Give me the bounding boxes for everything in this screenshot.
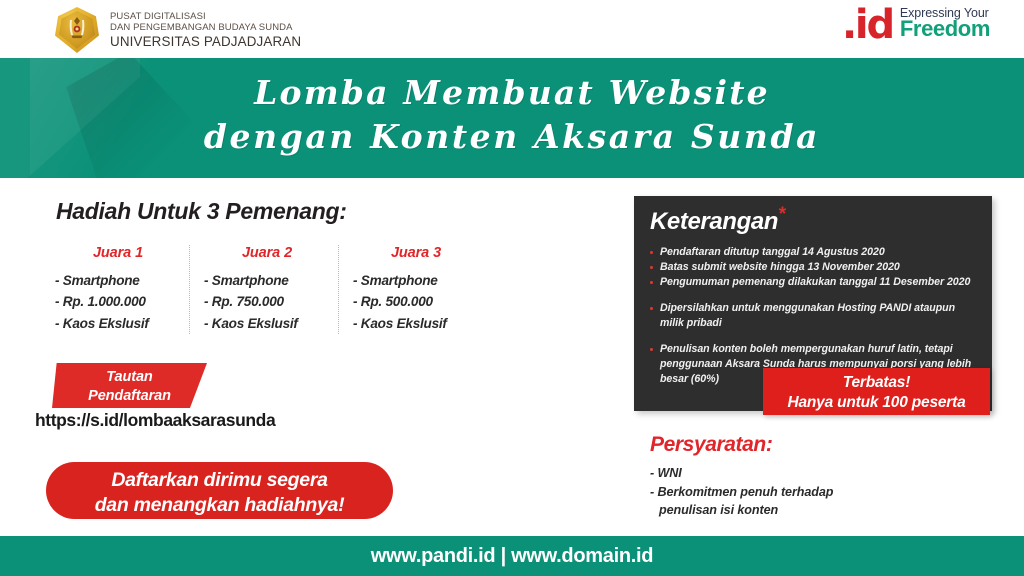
requirements-list: - WNI - Berkomitmen penuh terhadap penul… [650, 464, 833, 520]
page-title-line-1: Lomba Membuat Website [0, 71, 1024, 115]
prize-item: - Kaos Ekslusif [353, 313, 479, 334]
quota-badge: Terbatas! Hanya untuk 100 peserta [763, 368, 990, 415]
requirement-item-continued: penulisan isi konten [650, 501, 833, 520]
page-title-line-2: dengan Konten Aksara Sunda [0, 115, 1024, 159]
info-item: Batas submit website hingga 13 November … [650, 260, 974, 275]
page-header: PUSAT DIGITALISASI DAN PENGEMBANGAN BUDA… [0, 0, 1024, 58]
info-group-2: Dipersilahkan untuk menggunakan Hosting … [650, 301, 974, 331]
dot-id-wordmark: .id [842, 9, 893, 42]
quota-line-1: Terbatas! [763, 373, 990, 393]
info-title-text: Keterangan [650, 208, 778, 235]
info-item: Pendaftaran ditutup tanggal 14 Agustus 2… [650, 245, 974, 260]
unpad-branding: PUSAT DIGITALISASI DAN PENGEMBANGAN BUDA… [52, 5, 301, 55]
asterisk-icon: * [778, 204, 785, 225]
prize-item: - Rp. 1.000.000 [55, 291, 181, 312]
prize-column-2: Juara 2 - Smartphone - Rp. 750.000 - Kao… [189, 245, 338, 334]
id-tagline-bottom: Freedom [900, 18, 990, 40]
registration-link-tag: Tautan Pendaftaran [52, 363, 207, 408]
registration-tag-line-1: Tautan [52, 368, 207, 387]
title-banner: Lomba Membuat Website dengan Konten Aksa… [0, 58, 1024, 178]
info-item: Dipersilahkan untuk menggunakan Hosting … [650, 301, 974, 331]
register-cta-button[interactable]: Daftarkan dirimu segera dan menangkan ha… [46, 462, 393, 519]
requirement-item: - Berkomitmen penuh terhadap [650, 483, 833, 502]
info-group-1: Pendaftaran ditutup tanggal 14 Agustus 2… [650, 245, 974, 290]
pandi-id-logo: .id Expressing Your Freedom [842, 7, 990, 42]
prize-item: - Kaos Ekslusif [204, 313, 330, 334]
page-title: Lomba Membuat Website dengan Konten Aksa… [0, 71, 1024, 158]
prizes-table: Juara 1 - Smartphone - Rp. 1.000.000 - K… [47, 245, 487, 334]
cta-line-2: dan menangkan hadiahnya! [46, 493, 393, 518]
unpad-line-2: DAN PENGEMBANGAN BUDAYA SUNDA [110, 22, 301, 33]
prize-item: - Kaos Ekslusif [55, 313, 181, 334]
prize-item: - Smartphone [55, 270, 181, 291]
unpad-shield-icon [52, 5, 102, 55]
prize-item: - Smartphone [204, 270, 330, 291]
info-item: Pengumuman pemenang dilakukan tanggal 11… [650, 275, 974, 290]
prize-column-1: Juara 1 - Smartphone - Rp. 1.000.000 - K… [47, 245, 189, 334]
unpad-line-3: UNIVERSITAS PADJADJARAN [110, 34, 301, 50]
prize-item: - Smartphone [353, 270, 479, 291]
prize-item: - Rp. 750.000 [204, 291, 330, 312]
prize-title-2: Juara 2 [204, 245, 330, 261]
registration-tag-line-2: Pendaftaran [52, 387, 207, 406]
registration-url-link[interactable]: https://s.id/lombaaksarasunda [35, 410, 275, 431]
prize-title-3: Juara 3 [353, 245, 479, 261]
requirements-title: Persyaratan: [650, 433, 772, 457]
id-tagline: Expressing Your Freedom [900, 7, 990, 42]
footer-bar: www.pandi.id | www.domain.id [0, 536, 1024, 576]
prize-column-3: Juara 3 - Smartphone - Rp. 500.000 - Kao… [338, 245, 487, 334]
cta-line-1: Daftarkan dirimu segera [46, 468, 393, 493]
prizes-heading: Hadiah Untuk 3 Pemenang: [56, 198, 347, 225]
requirement-item: - WNI [650, 464, 833, 483]
quota-line-2: Hanya untuk 100 peserta [763, 393, 990, 413]
prize-title-1: Juara 1 [55, 245, 181, 261]
unpad-emblem-icon [68, 16, 86, 40]
prize-item: - Rp. 500.000 [353, 291, 479, 312]
info-panel-title: Keterangan* [650, 210, 974, 234]
unpad-text-block: PUSAT DIGITALISASI DAN PENGEMBANGAN BUDA… [110, 10, 301, 50]
unpad-line-1: PUSAT DIGITALISASI [110, 11, 301, 22]
